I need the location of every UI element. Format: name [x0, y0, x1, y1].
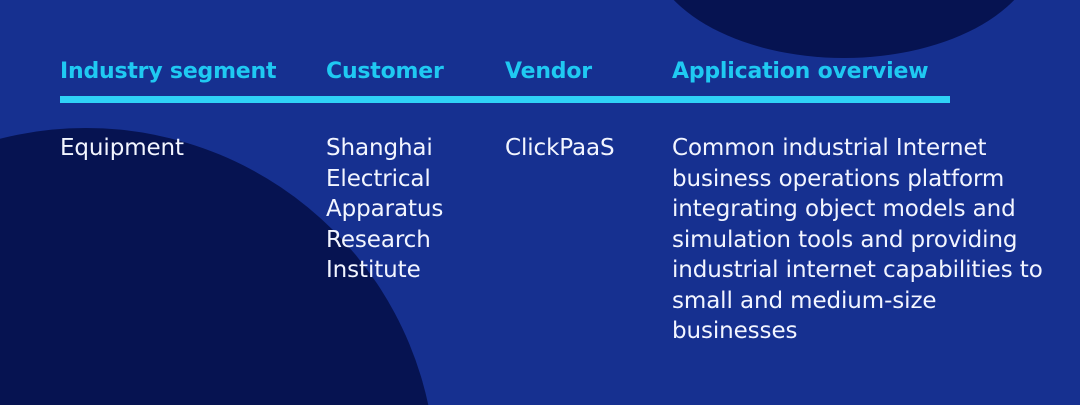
column-header-customer: Customer — [326, 58, 444, 86]
table-header-row: Industry segment Customer Vendor Applica… — [60, 58, 950, 90]
cell-industry-segment: Equipment — [60, 133, 310, 164]
column-header-vendor: Vendor — [505, 58, 592, 86]
cell-vendor: ClickPaaS — [505, 133, 665, 164]
column-header-application-overview: Application overview — [672, 58, 928, 86]
header-underline-rule — [60, 96, 950, 103]
cell-customer: Shanghai Electrical Apparatus Research I… — [326, 133, 496, 286]
comparison-table: Industry segment Customer Vendor Applica… — [0, 0, 1080, 405]
cell-application-overview: Common industrial Internet business oper… — [672, 133, 1062, 347]
column-header-industry-segment: Industry segment — [60, 58, 276, 86]
slide-canvas: Industry segment Customer Vendor Applica… — [0, 0, 1080, 405]
